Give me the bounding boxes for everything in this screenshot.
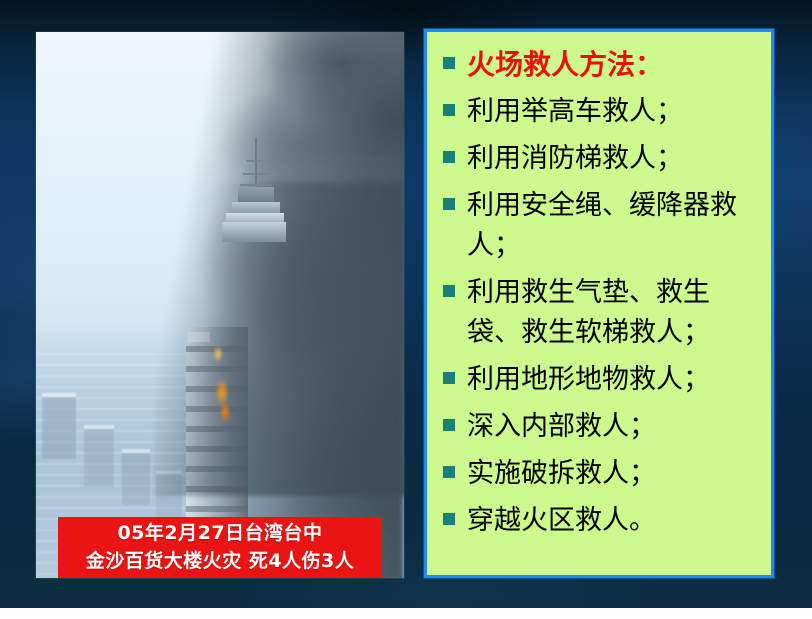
list-item-label: 深入内部救人； [467,407,656,447]
square-bullet-icon [443,513,455,525]
list-item: 利用地形地物救人； [435,360,761,400]
list-item-label: 利用举高车救人； [467,92,683,132]
list-item: 实施破拆救人； [435,454,761,494]
list-item: 利用安全绳、缓降器救人； [435,186,761,266]
photo-antenna-mast [255,138,257,186]
square-bullet-icon [443,419,455,431]
square-bullet-icon [443,372,455,384]
photo-caption-line-2: 金沙百货大楼火灾 死4人伤3人 [86,548,355,575]
list-item: 利用消防梯救人； [435,139,761,179]
content-panel-inner: 火场救人方法： 利用举高车救人； 利用消防梯救人； 利用安全绳、缓降器救人； 利 [427,32,771,575]
photo-antenna-crossbar-mid [243,173,269,175]
photo-antenna-crossbar-low [240,184,272,186]
square-bullet-icon [443,57,455,69]
fire-photo: 05年2月27日台湾台中 金沙百货大楼火灾 死4人伤3人 [36,32,404,578]
list-item-label: 穿越火区救人。 [467,501,656,541]
list-item: 深入内部救人； [435,407,761,447]
photo-antenna-crossbar-top [246,160,266,162]
list-item-label: 火场救人方法： [467,45,663,85]
list-item-label: 利用安全绳、缓降器救人； [467,186,761,266]
content-panel: 火场救人方法： 利用举高车救人； 利用消防梯救人； 利用安全绳、缓降器救人； 利 [424,29,774,578]
list-item: 利用救生气垫、救生袋、救生软梯救人； [435,273,761,353]
rescue-methods-list: 火场救人方法： 利用举高车救人； 利用消防梯救人； 利用安全绳、缓降器救人； 利 [435,45,761,541]
square-bullet-icon [443,466,455,478]
photo-tower-tier-4 [222,222,286,242]
list-item-label: 利用地形地物救人； [467,360,710,400]
presentation-slide: 05年2月27日台湾台中 金沙百货大楼火灾 死4人伤3人 火场救人方法： 利用举… [0,0,812,608]
photo-tower-tier-1 [238,187,274,203]
square-bullet-icon [443,198,455,210]
photo-caption-bar: 05年2月27日台湾台中 金沙百货大楼火灾 死4人伤3人 [58,517,382,578]
square-bullet-icon [443,151,455,163]
square-bullet-icon [443,285,455,297]
list-item-label: 利用消防梯救人； [467,139,683,179]
list-item: 利用举高车救人； [435,92,761,132]
list-item: 穿越火区救人。 [435,501,761,541]
photo-flame-upper [212,344,224,362]
list-item-heading: 火场救人方法： [435,45,761,85]
list-item-label: 利用救生气垫、救生袋、救生软梯救人； [467,273,761,353]
list-item-label: 实施破拆救人； [467,454,656,494]
square-bullet-icon [443,104,455,116]
photo-flame-lower [218,398,232,424]
photo-caption-line-1: 05年2月27日台湾台中 [117,520,322,547]
